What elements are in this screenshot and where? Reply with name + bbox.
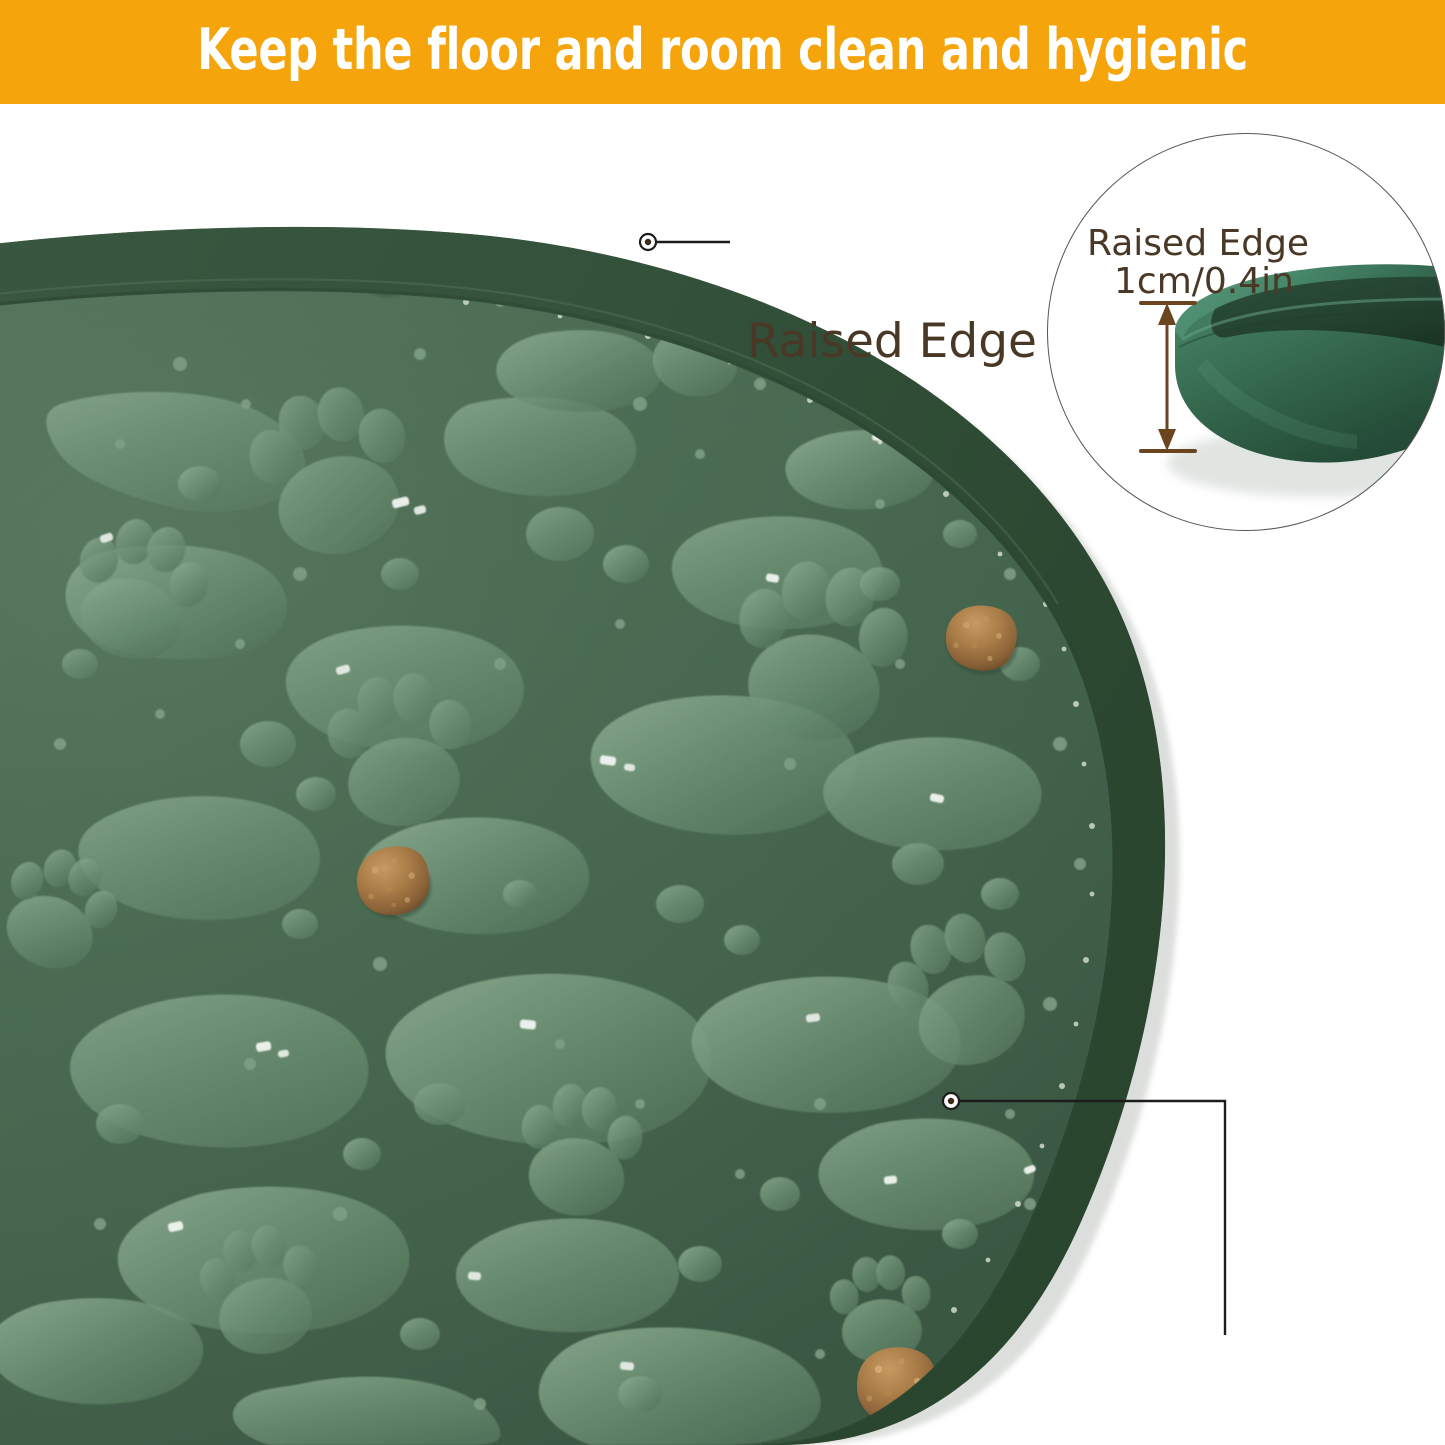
callout-leader-raised-edge [640,234,730,250]
banner-headline: Keep the floor and room clean and hygien… [197,22,1248,83]
product-feature-image: Keep the floor and room clean and hygien… [0,0,1445,1445]
header-banner: Keep the floor and room clean and hygien… [0,0,1445,104]
inset-illustration [1047,133,1445,531]
inset-label-title: Raised Edge [1087,225,1309,264]
inset-label-measurement: 1cm/0.4in [1114,263,1294,302]
raised-edge-inset-photo: Raised Edge 1cm/0.4in [1047,133,1445,531]
callout-label-raised-edge: Raised Edge [747,318,1037,365]
